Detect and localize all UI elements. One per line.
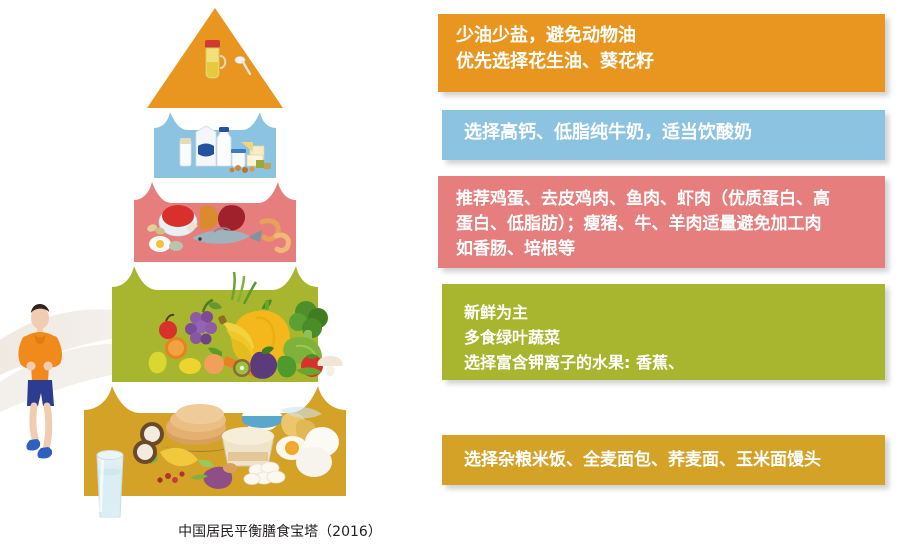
callout-oil-line-1: 少油少盐，避免动物油 <box>456 23 885 49</box>
callout-oil-salt: 少油少盐，避免动物油 优先选择花生油、葵花籽 <box>438 14 885 92</box>
callout-protein-line-1: 推荐鸡蛋、去皮鸡肉、鱼肉、虾肉（优质蛋白、高 <box>456 187 885 212</box>
callout-veg-line-3: 选择富含钾离子的水果: 香蕉、 <box>464 350 885 375</box>
callout-dairy: 选择高钙、低脂纯牛奶，适当饮酸奶 <box>442 110 885 160</box>
pyramid-tier-grain <box>84 386 346 496</box>
callout-veg-line-1: 新鲜为主 <box>464 300 885 325</box>
callout-grain: 选择杂粮米饭、全麦面包、荞麦面、玉米面馒头 <box>442 435 885 485</box>
callout-grain-line-1: 选择杂粮米饭、全麦面包、荞麦面、玉米面馒头 <box>464 447 885 473</box>
pyramid-tier-oil <box>147 8 283 108</box>
pyramid-tier-dairy <box>154 112 276 178</box>
pyramid-tier-meat <box>134 182 296 262</box>
pyramid-tier-vegetable <box>112 266 343 382</box>
page-title: 中国居民平衡膳食宝塔（2016） <box>150 521 410 541</box>
callout-protein-line-3: 如香肠、培根等 <box>456 237 885 262</box>
callout-veg-line-2: 多食绿叶蔬菜 <box>464 325 885 350</box>
callout-protein: 推荐鸡蛋、去皮鸡肉、鱼肉、虾肉（优质蛋白、高 蛋白、低脂肪）；瘦猪、牛、羊肉适量… <box>438 176 885 268</box>
callout-oil-line-2: 优先选择花生油、葵花籽 <box>456 49 885 75</box>
callout-vegetable-fruit: 新鲜为主 多食绿叶蔬菜 选择富含钾离子的水果: 香蕉、 <box>442 284 885 380</box>
callout-protein-line-2: 蛋白、低脂肪）；瘦猪、牛、羊肉适量避免加工肉 <box>456 212 885 237</box>
water-glass-icon <box>97 451 123 518</box>
callout-dairy-line-1: 选择高钙、低脂纯牛奶，适当饮酸奶 <box>464 120 885 146</box>
dietary-pagoda-graphic <box>0 0 430 557</box>
